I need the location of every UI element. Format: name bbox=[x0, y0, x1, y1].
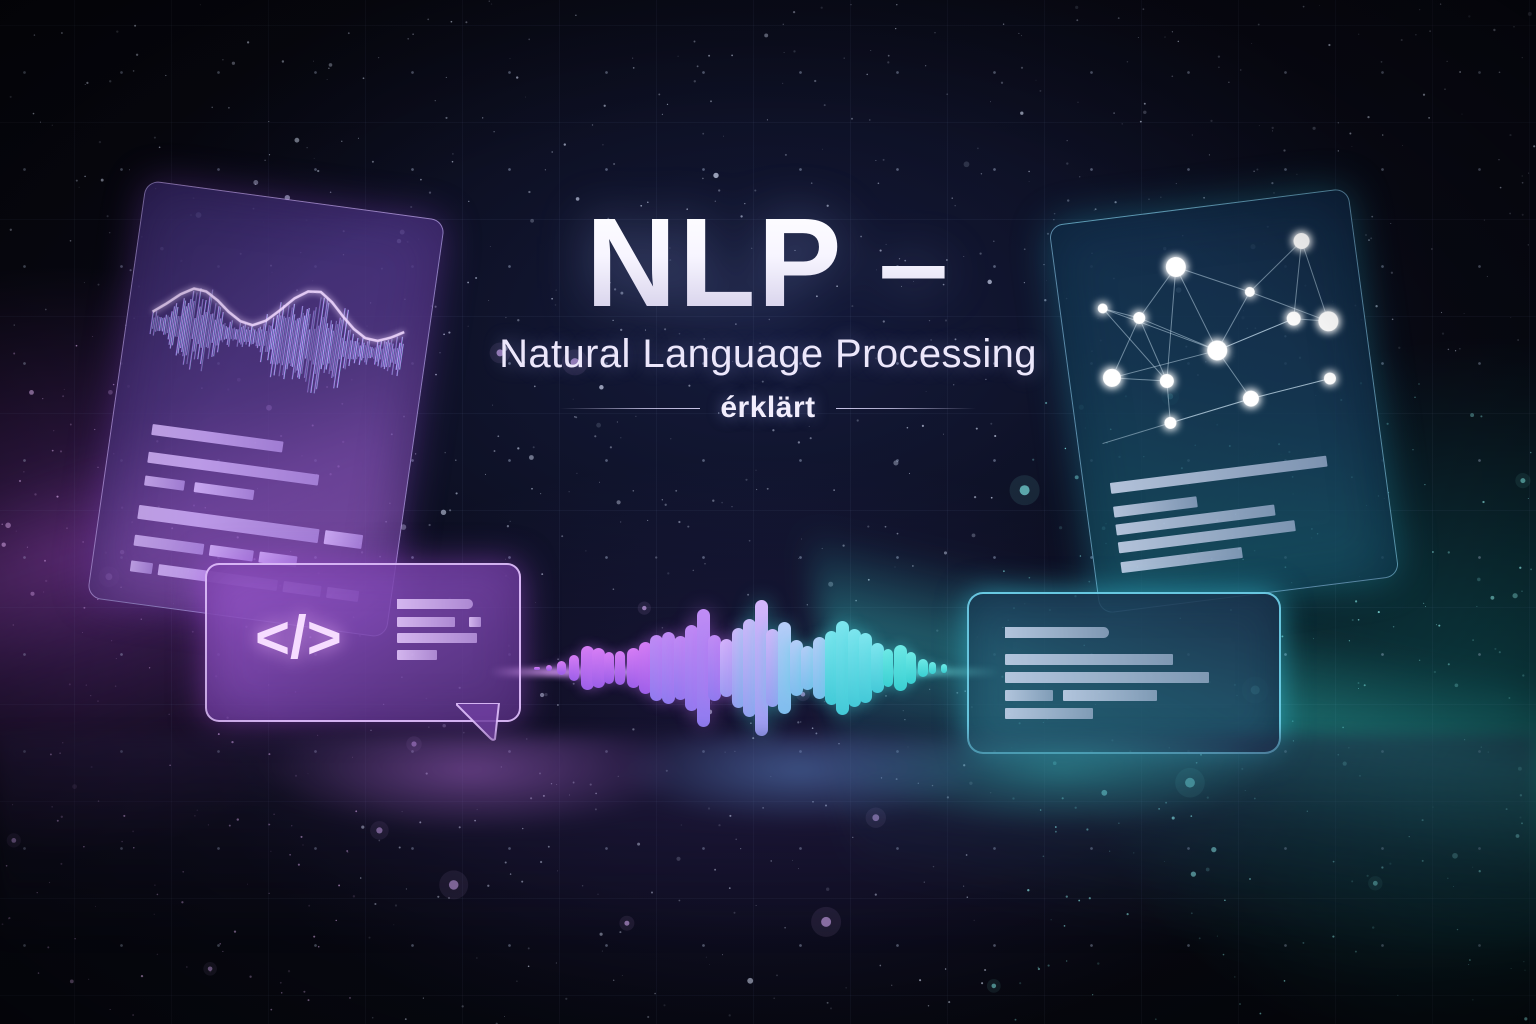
text-placeholder-bar bbox=[194, 482, 255, 500]
waveform-bar bbox=[546, 665, 552, 671]
waveform-bar bbox=[557, 661, 566, 675]
headline-block: NLP – Natural Language Processing érklär… bbox=[0, 200, 1536, 425]
text-placeholder-bar bbox=[397, 633, 477, 643]
waveform-bar bbox=[662, 632, 675, 704]
text-placeholder-bar bbox=[397, 617, 455, 627]
text-placeholder-bar bbox=[1063, 690, 1157, 701]
tagline-row: érklärt bbox=[0, 391, 1536, 425]
waveform-bar bbox=[918, 659, 928, 677]
text-placeholder-bar bbox=[324, 530, 364, 549]
poster-canvas: </> NLP – Natural Language Processing ér… bbox=[0, 0, 1536, 1024]
waveform-bar bbox=[883, 649, 893, 687]
speech-bubble-tail bbox=[455, 703, 501, 741]
page-title: NLP – bbox=[0, 200, 1536, 326]
text-placeholder-bar bbox=[1113, 496, 1198, 517]
waveform-bar bbox=[813, 637, 826, 699]
tagline-rule-left bbox=[560, 408, 700, 409]
text-placeholder-bar bbox=[137, 505, 319, 543]
waveform-bar bbox=[720, 639, 733, 697]
text-placeholder-bar bbox=[1005, 672, 1209, 683]
waveform-bar bbox=[941, 664, 947, 673]
text-placeholder-bar bbox=[1005, 654, 1173, 665]
waveform-bar bbox=[569, 655, 579, 681]
waveform-bar bbox=[604, 652, 614, 684]
text-placeholder-bar bbox=[1005, 690, 1053, 701]
text-placeholder-bar bbox=[397, 599, 473, 609]
waveform-bar bbox=[615, 651, 625, 685]
text-placeholder-bar bbox=[1120, 547, 1242, 573]
waveform-bar bbox=[534, 667, 540, 670]
text-placeholder-bar bbox=[133, 535, 204, 555]
code-speech-bubble[interactable]: </> bbox=[205, 563, 521, 722]
tagline: érklärt bbox=[720, 391, 815, 425]
waveform-bar bbox=[929, 662, 936, 674]
tagline-rule-right bbox=[836, 408, 976, 409]
text-placeholder-bar bbox=[1005, 627, 1109, 638]
text-placeholder-bar bbox=[209, 545, 254, 562]
text-placeholder-bar bbox=[144, 475, 185, 490]
code-angle-brackets-icon: </> bbox=[255, 603, 342, 672]
text-placeholder-bar bbox=[130, 560, 153, 574]
output-text-panel[interactable] bbox=[967, 592, 1281, 754]
text-placeholder-bar bbox=[397, 650, 437, 660]
waveform-bar bbox=[906, 652, 916, 684]
text-placeholder-bar bbox=[469, 617, 481, 627]
text-placeholder-bar bbox=[1005, 708, 1093, 719]
central-audio-waveform bbox=[530, 545, 960, 780]
page-subtitle: Natural Language Processing bbox=[0, 332, 1536, 377]
